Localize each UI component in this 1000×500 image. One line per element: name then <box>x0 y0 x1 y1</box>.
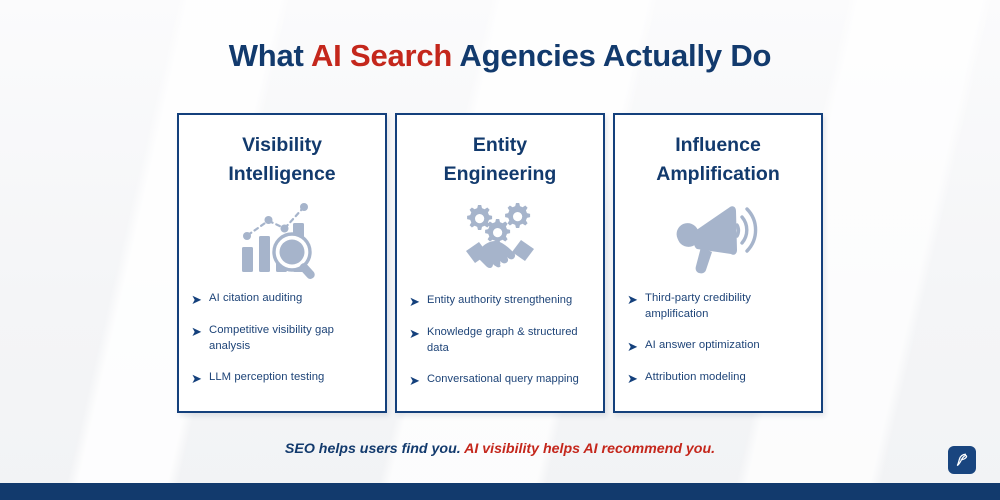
page-title-accent: AI Search <box>311 38 452 73</box>
card-title-line2: Intelligence <box>187 160 377 189</box>
bullet-list-entity: ➤ Entity authority strengthening ➤ Knowl… <box>397 293 603 388</box>
card-influence-amplification[interactable]: Influence Amplification <box>613 113 823 413</box>
list-item: ➤ Competitive visibility gap analysis <box>191 323 371 354</box>
card-title-visibility-intelligence: Visibility Intelligence <box>179 131 385 189</box>
arrow-bullet-icon: ➤ <box>627 371 645 386</box>
page-title-part1: What <box>229 38 311 73</box>
bullet-text: Competitive visibility gap analysis <box>209 323 371 354</box>
bullet-text: Knowledge graph & structured data <box>427 325 589 356</box>
arrow-bullet-icon: ➤ <box>409 326 427 341</box>
list-item: ➤ Conversational query mapping <box>409 372 589 388</box>
bullet-text: Conversational query mapping <box>427 372 579 388</box>
list-item: ➤ AI answer optimization <box>627 338 807 354</box>
bar-chart-magnifier-icon <box>179 191 385 287</box>
bullet-text: AI citation auditing <box>209 291 302 307</box>
list-item: ➤ Knowledge graph & structured data <box>409 325 589 356</box>
card-title-influence-amplification: Influence Amplification <box>615 131 821 189</box>
list-item: ➤ Attribution modeling <box>627 370 807 386</box>
page-title-part2: Agencies Actually Do <box>452 38 771 73</box>
card-visibility-intelligence[interactable]: Visibility Intelligence <box>177 113 387 413</box>
bullet-text: Attribution modeling <box>645 370 746 386</box>
footer-tagline: SEO helps users find you. AI visibility … <box>0 441 1000 457</box>
card-title-line1: Visibility <box>187 131 377 160</box>
handshake-gears-icon <box>397 191 603 287</box>
card-group: Visibility Intelligence <box>177 113 823 413</box>
arrow-bullet-icon: ➤ <box>191 292 209 307</box>
arrow-bullet-icon: ➤ <box>409 294 427 309</box>
arrow-bullet-icon: ➤ <box>191 324 209 339</box>
footer-tagline-accent: AI visibility helps AI recommend you. <box>461 441 715 457</box>
bullet-list-visibility: ➤ AI citation auditing ➤ Competitive vis… <box>179 291 385 386</box>
card-title-line2: Engineering <box>405 160 595 189</box>
bottom-accent-bar <box>0 483 1000 500</box>
bullet-text: AI answer optimization <box>645 338 760 354</box>
infographic-canvas: What AI Search Agencies Actually Do Visi… <box>0 0 1000 500</box>
bullet-list-influence: ➤ Third-party credibility amplification … <box>615 291 821 386</box>
arrow-bullet-icon: ➤ <box>191 371 209 386</box>
list-item: ➤ Third-party credibility amplification <box>627 291 807 322</box>
card-entity-engineering[interactable]: Entity Engineering <box>395 113 605 413</box>
list-item: ➤ LLM perception testing <box>191 370 371 386</box>
card-title-line2: Amplification <box>623 160 813 189</box>
brand-logo[interactable] <box>948 446 976 474</box>
arrow-bullet-icon: ➤ <box>409 373 427 388</box>
arrow-bullet-icon: ➤ <box>627 339 645 354</box>
card-title-line1: Influence <box>623 131 813 160</box>
arrow-bullet-icon: ➤ <box>627 292 645 307</box>
bullet-text: Third-party credibility amplification <box>645 291 807 322</box>
card-title-entity-engineering: Entity Engineering <box>397 131 603 189</box>
list-item: ➤ AI citation auditing <box>191 291 371 307</box>
page-title: What AI Search Agencies Actually Do <box>0 38 1000 74</box>
bullet-text: LLM perception testing <box>209 370 324 386</box>
bullet-text: Entity authority strengthening <box>427 293 572 309</box>
megaphone-icon <box>615 191 821 287</box>
list-item: ➤ Entity authority strengthening <box>409 293 589 309</box>
footer-tagline-part1: SEO helps users find you. <box>285 441 461 457</box>
card-title-line1: Entity <box>405 131 595 160</box>
